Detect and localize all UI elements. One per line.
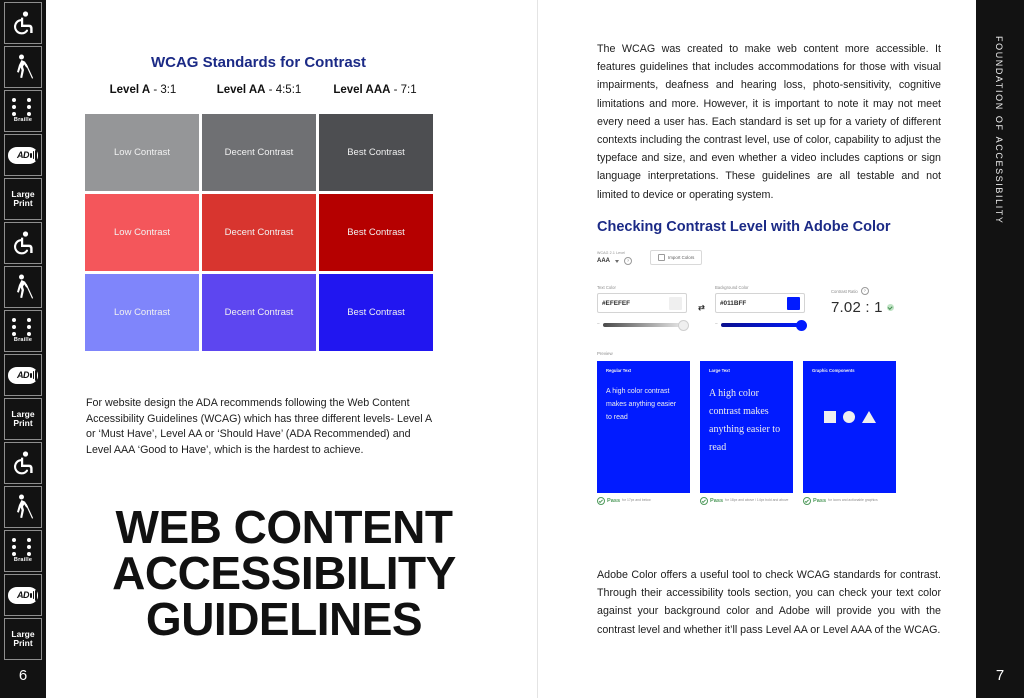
right-page: The WCAG was created to make web content… — [538, 0, 976, 698]
level-aaa-ratio: - 7:1 — [390, 84, 416, 96]
blind-cane-icon — [4, 46, 42, 88]
check-circle-icon — [700, 497, 708, 505]
contrast-level-headers: Level A - 3:1 Level AA - 4:5:1 Level AAA… — [85, 84, 433, 96]
ad-label: AD — [17, 371, 29, 380]
swatch-red-low: Low Contrast — [85, 194, 199, 271]
background-color-field-group: Background Color #011BFF − — [715, 285, 805, 327]
text-color-label: Text Color — [597, 285, 687, 290]
audio-description-icon: AD — [4, 134, 42, 176]
card-caption: Large Text — [709, 368, 784, 373]
blind-cane-icon — [4, 266, 42, 308]
text-color-field-group: Text Color #EFEFEF − — [597, 285, 687, 327]
card-body: A high color contrast makes anything eas… — [709, 385, 784, 457]
text-color-chip[interactable] — [669, 297, 682, 310]
level-aaa-name: Level AAA — [333, 84, 390, 96]
contrast-ratio-label: Contrast Ratio — [831, 289, 858, 294]
braille-icon: Braille — [4, 310, 42, 352]
wcag-level-selector[interactable]: WCAG 2.1 Level AAA ? — [597, 251, 632, 265]
large-print-icon: LargePrint — [4, 618, 42, 660]
contrast-ratio-block: Contrast Ratio ? 7.02 : 1 — [831, 285, 894, 316]
swatch-blue-decent: Decent Contrast — [202, 274, 316, 351]
preview-card-large-text: Large Text A high color contrast makes a… — [700, 361, 793, 493]
page-title-line-2: ACCESSIBILITY — [64, 550, 504, 596]
right-intro-paragraph: The WCAG was created to make web content… — [597, 40, 941, 204]
swatch-blue-low: Low Contrast — [85, 274, 199, 351]
braille-icon: Braille — [4, 90, 42, 132]
card-body: A high color contrast makes anything eas… — [606, 385, 681, 424]
wcag-level-label: WCAG 2.1 Level — [597, 251, 632, 255]
background-color-label: Background Color — [715, 285, 805, 290]
pass-label: Pass — [710, 498, 723, 504]
large-print-icon: LargePrint — [4, 398, 42, 440]
level-header-a: Level A - 3:1 — [85, 84, 201, 96]
check-circle-icon — [887, 304, 894, 311]
level-aa-ratio: - 4:5:1 — [265, 84, 301, 96]
pass-label: Pass — [607, 498, 620, 504]
braille-icon: Braille — [4, 530, 42, 572]
level-aa-name: Level AA — [217, 84, 266, 96]
contrast-chart-title: WCAG Standards for Contrast — [46, 54, 471, 71]
import-colors-button[interactable]: Import Colors — [650, 250, 702, 265]
ad-label: AD — [17, 591, 29, 600]
background-color-value: #011BFF — [720, 300, 746, 307]
pass-label: Pass — [813, 498, 826, 504]
slider-minus-icon: − — [715, 322, 718, 327]
audio-description-icon: AD — [4, 574, 42, 616]
swatch-red-best: Best Contrast — [319, 194, 433, 271]
wheelchair-icon — [4, 442, 42, 484]
text-color-value: #EFEFEF — [602, 300, 630, 307]
page-title-line-1: WEB CONTENT — [64, 504, 504, 550]
background-color-chip[interactable] — [787, 297, 800, 310]
card-caption: Regular Text — [606, 368, 681, 373]
card-caption: Graphic Components — [812, 368, 887, 373]
import-icon — [658, 254, 665, 261]
large-print-line-2: Print — [13, 638, 32, 648]
adobe-color-widget: WCAG 2.1 Level AAA ? Import Colors Text … — [597, 243, 953, 505]
pass-status-graphic-components: Pass for icons and actionable graphics — [803, 497, 896, 505]
check-circle-icon — [803, 497, 811, 505]
swatch-red-decent: Decent Contrast — [202, 194, 316, 271]
right-page-number: 7 — [996, 667, 1004, 684]
large-print-line-2: Print — [13, 198, 32, 208]
swatch-blue-best: Best Contrast — [319, 274, 433, 351]
chapter-title: Foundation of Accessibility — [993, 36, 1007, 225]
right-closing-paragraph: Adobe Color offers a useful tool to chec… — [597, 566, 941, 639]
level-header-aa: Level AA - 4:5:1 — [201, 84, 317, 96]
level-a-ratio: - 3:1 — [150, 84, 176, 96]
text-color-input[interactable]: #EFEFEF — [597, 293, 687, 313]
braille-label: Braille — [14, 118, 32, 124]
pass-note: for 18px and above / 14px bold and above — [725, 499, 788, 503]
swatch-gray-low: Low Contrast — [85, 114, 199, 191]
square-icon — [824, 411, 836, 423]
braille-label: Braille — [14, 558, 32, 564]
adobe-color-toolbar: WCAG 2.1 Level AAA ? Import Colors — [597, 243, 953, 265]
wheelchair-icon — [4, 2, 42, 44]
magazine-spread: Braille AD LargePrint Braille AD LargePr… — [0, 0, 1024, 698]
swatch-gray-best: Best Contrast — [319, 114, 433, 191]
preview-pass-row: Pass for 17px and below Pass for 18px an… — [597, 497, 953, 505]
triangle-icon — [862, 411, 876, 423]
slider-minus-icon: − — [597, 322, 600, 327]
background-color-slider[interactable]: − — [715, 322, 805, 327]
preview-cards: Regular Text A high color contrast makes… — [597, 361, 953, 493]
wcag-level-value: AAA — [597, 258, 610, 264]
left-body-paragraph: For website design the ADA recommends fo… — [86, 396, 434, 458]
level-a-name: Level A — [110, 84, 150, 96]
adobe-color-inputs-row: Text Color #EFEFEF − ⇄ — [597, 285, 953, 327]
left-page-number: 6 — [19, 667, 27, 684]
pass-status-large-text: Pass for 18px and above / 14px bold and … — [700, 497, 793, 505]
contrast-ratio-value: 7.02 : 1 — [831, 299, 883, 316]
braille-label: Braille — [14, 338, 32, 344]
swap-colors-button[interactable]: ⇄ — [687, 285, 715, 312]
graphic-shapes — [812, 411, 887, 423]
large-print-icon: LargePrint — [4, 178, 42, 220]
preview-card-graphic-components: Graphic Components — [803, 361, 896, 493]
import-colors-label: Import Colors — [668, 255, 694, 260]
page-title: WEB CONTENT ACCESSIBILITY GUIDELINES — [64, 504, 504, 642]
contrast-swatch-grid: Low Contrast Decent Contrast Best Contra… — [85, 114, 433, 351]
swatch-gray-decent: Decent Contrast — [202, 114, 316, 191]
pass-status-regular-text: Pass for 17px and below — [597, 497, 690, 505]
page-title-line-3: GUIDELINES — [64, 596, 504, 642]
info-icon[interactable]: ? — [624, 257, 632, 265]
preview-card-regular-text: Regular Text A high color contrast makes… — [597, 361, 690, 493]
audio-description-icon: AD — [4, 354, 42, 396]
level-header-aaa: Level AAA - 7:1 — [317, 84, 433, 96]
blind-cane-icon — [4, 486, 42, 528]
info-icon[interactable]: ? — [861, 287, 869, 295]
pass-note: for icons and actionable graphics — [828, 499, 878, 503]
chevron-down-icon[interactable] — [615, 260, 619, 263]
right-sidebar: Foundation of Accessibility 7 — [976, 0, 1024, 698]
swap-icon: ⇄ — [698, 303, 704, 312]
large-print-line-2: Print — [13, 418, 32, 428]
wheelchair-icon — [4, 222, 42, 264]
section-heading: Checking Contrast Level with Adobe Color — [597, 219, 891, 235]
text-color-slider[interactable]: − — [597, 322, 687, 327]
background-color-input[interactable]: #011BFF — [715, 293, 805, 313]
ad-label: AD — [17, 151, 29, 160]
pass-note: for 17px and below — [622, 499, 651, 503]
circle-icon — [843, 411, 855, 423]
preview-label: Preview — [597, 351, 953, 356]
left-page: WCAG Standards for Contrast Level A - 3:… — [46, 0, 537, 698]
check-circle-icon — [597, 497, 605, 505]
left-accessibility-icon-rail: Braille AD LargePrint Braille AD LargePr… — [0, 0, 46, 698]
